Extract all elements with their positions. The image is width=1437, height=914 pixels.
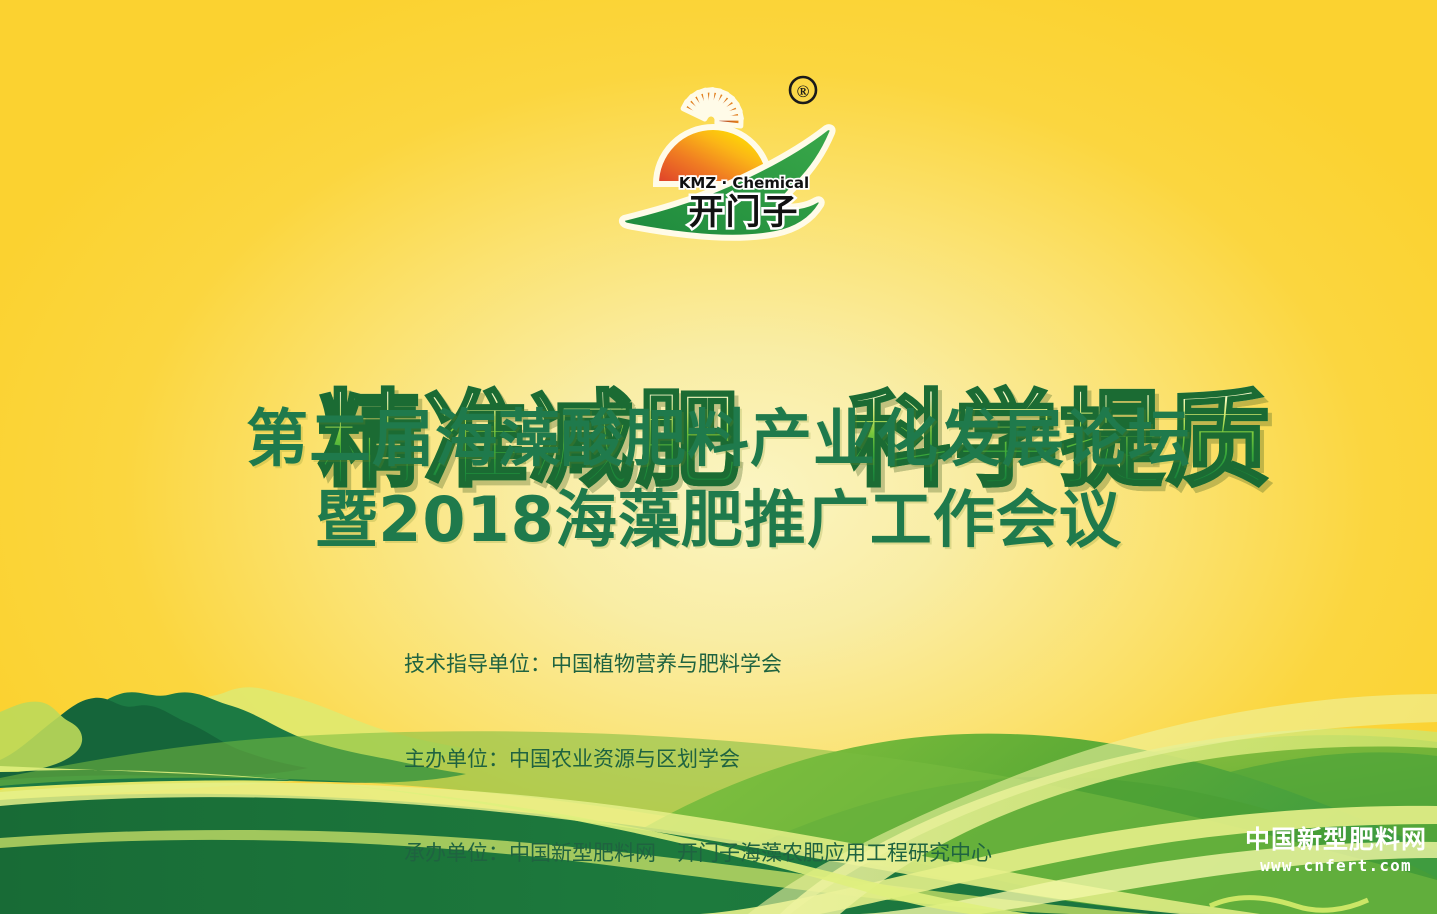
registered-mark-icon: ® bbox=[790, 77, 816, 103]
poster-subtitle-line2: 暨2018海藻肥推广工作会议 bbox=[0, 485, 1437, 555]
credit-line-organizer: 主办单位：中国农业资源与区划学会 bbox=[404, 744, 1164, 776]
credit-line-co-organizer: 承办单位：中国新型肥料网 开门子海藻农肥应用工程研究中心 bbox=[404, 838, 1164, 870]
logo-brand-en: KMZ · Chemical bbox=[679, 174, 809, 192]
conference-poster: ® KMZ · Chemical 开门子 精准减肥 科学提质 第二届海藻酸肥料产… bbox=[0, 0, 1437, 914]
logo-brand-cn: 开门子 bbox=[688, 193, 799, 233]
company-logo: ® KMZ · Chemical 开门子 bbox=[616, 60, 842, 246]
poster-subtitle-line1: 第二届海藻酸肥料产业化发展论坛 bbox=[0, 404, 1437, 474]
logo-graphic: ® KMZ · Chemical 开门子 bbox=[616, 60, 842, 246]
credit-line-technical-guidance: 技术指导单位：中国植物营养与肥料学会 bbox=[404, 649, 1164, 681]
watermark-site-name: 中国新型肥料网 bbox=[1243, 826, 1429, 854]
watermark-url: www.cnfert.com bbox=[1243, 856, 1429, 876]
sun-rays-icon bbox=[683, 90, 741, 126]
site-watermark: 中国新型肥料网 www.cnfert.com bbox=[1243, 826, 1429, 876]
credits-block: 技术指导单位：中国植物营养与肥料学会 主办单位：中国农业资源与区划学会 承办单位… bbox=[404, 586, 1164, 914]
registered-mark-glyph: ® bbox=[797, 82, 810, 101]
